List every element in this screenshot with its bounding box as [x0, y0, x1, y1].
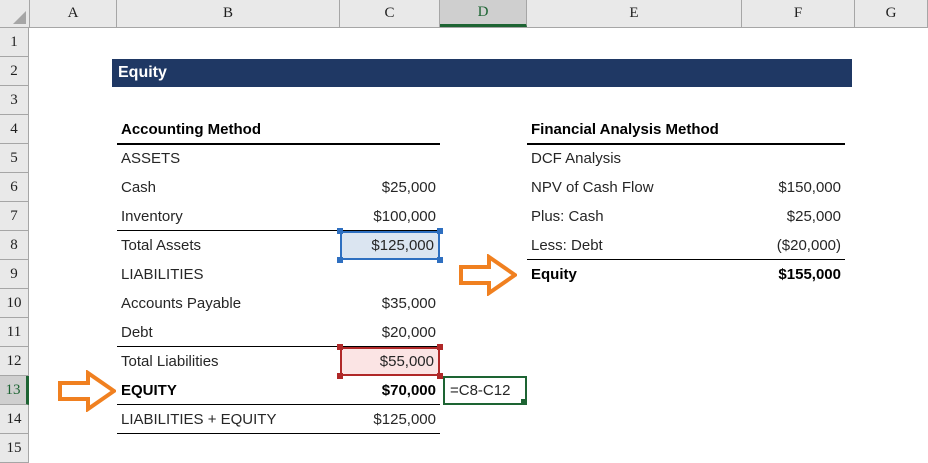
column-header-a[interactable]: A: [30, 0, 117, 27]
row-value-liabilities-plus-equity: $125,000: [340, 405, 440, 434]
row-header-4[interactable]: 4: [0, 115, 29, 144]
trace-precedent-cell-c8[interactable]: $125,000: [340, 231, 440, 260]
row-header-11-label: 11: [7, 324, 21, 341]
row-header-7-label: 7: [10, 208, 18, 225]
row-value-npv-cash-flow: $150,000: [742, 173, 845, 202]
row-value-liabilities: [340, 260, 440, 289]
row-header-6-label: 6: [10, 179, 18, 196]
row-header-13-label: 13: [6, 382, 21, 399]
row-label-debt: Debt: [117, 318, 340, 347]
spreadsheet-canvas: A B C D E F G 1 2 3 4 5 6 7 8 9 10 11 12…: [0, 0, 928, 463]
row-label-less-debt: Less: Debt: [527, 231, 742, 260]
row-value-assets: [340, 144, 440, 173]
formula-text: =C8-C12: [445, 376, 527, 405]
column-header-g[interactable]: G: [855, 0, 928, 27]
row-label-liabilities: LIABILITIES: [117, 260, 340, 289]
row-label-liabilities-plus-equity-text: LIABILITIES + EQUITY: [121, 411, 276, 428]
row-label-financial-equity-text: Equity: [531, 266, 577, 283]
row-header-9[interactable]: 9: [0, 260, 29, 289]
trace-handle-tr[interactable]: [437, 228, 443, 234]
column-header-g-label: G: [886, 5, 897, 22]
row-label-plus-cash: Plus: Cash: [527, 202, 742, 231]
accounting-header-label: Accounting Method: [121, 121, 261, 138]
row-label-liabilities-text: LIABILITIES: [121, 266, 204, 283]
row-label-cash: Cash: [117, 173, 340, 202]
column-header-b-label: B: [223, 5, 233, 22]
row-label-total-liabilities: Total Liabilities: [117, 347, 340, 376]
row-header-10[interactable]: 10: [0, 289, 29, 318]
column-header-b[interactable]: B: [117, 0, 340, 27]
row-header-11[interactable]: 11: [0, 318, 29, 347]
accounting-table-bottomline: [117, 433, 440, 434]
trace-red-handle-tr[interactable]: [437, 344, 443, 350]
row-label-total-liabilities-text: Total Liabilities: [121, 353, 219, 370]
column-header-c-label: C: [384, 5, 394, 22]
row-header-13[interactable]: 13: [0, 376, 29, 405]
corner-triangle-icon: [13, 11, 26, 24]
financial-header-label: Financial Analysis Method: [531, 121, 719, 138]
row-header-6[interactable]: 6: [0, 173, 29, 202]
row-header-5-label: 5: [10, 150, 18, 167]
row-value-equity-text: $70,000: [382, 382, 436, 399]
row-label-cash-text: Cash: [121, 179, 156, 196]
row-header-7[interactable]: 7: [0, 202, 29, 231]
row-value-accounts-payable-text: $35,000: [382, 295, 436, 312]
row-value-less-debt: ($20,000): [742, 231, 845, 260]
row-label-assets: ASSETS: [117, 144, 340, 173]
column-header-e-label: E: [629, 5, 638, 22]
row-header-15[interactable]: 15: [0, 434, 29, 463]
row-value-inventory: $100,000: [340, 202, 440, 231]
column-header-a-label: A: [68, 5, 79, 22]
row-label-inventory-text: Inventory: [121, 208, 183, 225]
row-header-3-label: 3: [10, 92, 18, 109]
row-header-8-label: 8: [10, 237, 18, 254]
row-label-total-assets-text: Total Assets: [121, 237, 201, 254]
row-header-5[interactable]: 5: [0, 144, 29, 173]
row-value-total-assets-text: $125,000: [371, 237, 434, 254]
row-value-cash-text: $25,000: [382, 179, 436, 196]
row-label-equity: EQUITY: [117, 376, 340, 405]
row-header-2-label: 2: [10, 63, 18, 80]
accounting-header: Accounting Method: [117, 115, 340, 144]
row-header-9-label: 9: [10, 266, 18, 283]
financial-header: Financial Analysis Method: [527, 115, 742, 144]
row-value-total-assets: $125,000: [342, 233, 438, 258]
column-header-e[interactable]: E: [527, 0, 742, 27]
row-header-3[interactable]: 3: [0, 86, 29, 115]
row-value-plus-cash: $25,000: [742, 202, 845, 231]
annotation-arrow-right-equity: [459, 254, 517, 296]
row-label-equity-text: EQUITY: [121, 382, 177, 399]
row-value-total-liabilities: $55,000: [342, 349, 438, 374]
row-value-financial-equity-text: $155,000: [778, 266, 841, 283]
row-header-8[interactable]: 8: [0, 231, 29, 260]
row-header-1[interactable]: 1: [0, 28, 29, 57]
row-label-inventory: Inventory: [117, 202, 340, 231]
row-value-dcf-analysis: [742, 144, 845, 173]
row-label-npv-cash-flow-text: NPV of Cash Flow: [531, 179, 654, 196]
column-header-c[interactable]: C: [340, 0, 440, 27]
title-banner: Equity: [112, 59, 852, 87]
row-value-accounts-payable: $35,000: [340, 289, 440, 318]
row-header-10-label: 10: [7, 295, 22, 312]
row-value-debt: $20,000: [340, 318, 440, 347]
row-value-equity: $70,000: [340, 376, 440, 405]
row-label-dcf-analysis-text: DCF Analysis: [531, 150, 621, 167]
row-label-accounts-payable: Accounts Payable: [117, 289, 340, 318]
column-header-d-label: D: [478, 4, 489, 21]
row-label-less-debt-text: Less: Debt: [531, 237, 603, 254]
row-label-debt-text: Debt: [121, 324, 153, 341]
row-label-plus-cash-text: Plus: Cash: [531, 208, 604, 225]
row-value-cash: $25,000: [340, 173, 440, 202]
row-header-2[interactable]: 2: [0, 57, 29, 86]
formula-fill-handle[interactable]: [521, 399, 527, 405]
row-label-npv-cash-flow: NPV of Cash Flow: [527, 173, 742, 202]
row-header-14-label: 14: [7, 411, 22, 428]
row-label-dcf-analysis: DCF Analysis: [527, 144, 742, 173]
column-header-f[interactable]: F: [742, 0, 855, 27]
column-header-d[interactable]: D: [440, 0, 527, 27]
row-label-financial-equity: Equity: [527, 260, 742, 289]
formula-text-value: =C8-C12: [450, 382, 510, 399]
trace-red-handle-tl[interactable]: [337, 344, 343, 350]
row-header-1-label: 1: [10, 34, 18, 51]
row-value-less-debt-text: ($20,000): [777, 237, 841, 254]
trace-dependent-cell-c12[interactable]: $55,000: [340, 347, 440, 376]
row-value-inventory-text: $100,000: [373, 208, 436, 225]
annotation-arrow-left-equity: [58, 370, 116, 412]
select-all-corner[interactable]: [0, 0, 30, 27]
row-header-14[interactable]: 14: [0, 405, 29, 434]
row-header-12[interactable]: 12: [0, 347, 29, 376]
row-label-total-assets: Total Assets: [117, 231, 340, 260]
column-header-f-label: F: [794, 5, 802, 22]
row-label-assets-text: ASSETS: [121, 150, 180, 167]
row-header-4-label: 4: [10, 121, 18, 138]
row-header-12-label: 12: [7, 353, 22, 370]
row-value-debt-text: $20,000: [382, 324, 436, 341]
row-value-plus-cash-text: $25,000: [787, 208, 841, 225]
row-label-liabilities-plus-equity: LIABILITIES + EQUITY: [117, 405, 340, 434]
row-value-total-liabilities-text: $55,000: [380, 353, 434, 370]
title-banner-label: Equity: [118, 64, 167, 82]
row-value-financial-equity: $155,000: [742, 260, 845, 289]
trace-handle-tl[interactable]: [337, 228, 343, 234]
row-value-npv-cash-flow-text: $150,000: [778, 179, 841, 196]
row-value-liabilities-plus-equity-text: $125,000: [373, 411, 436, 428]
row-header-15-label: 15: [7, 440, 22, 457]
row-label-accounts-payable-text: Accounts Payable: [121, 295, 241, 312]
